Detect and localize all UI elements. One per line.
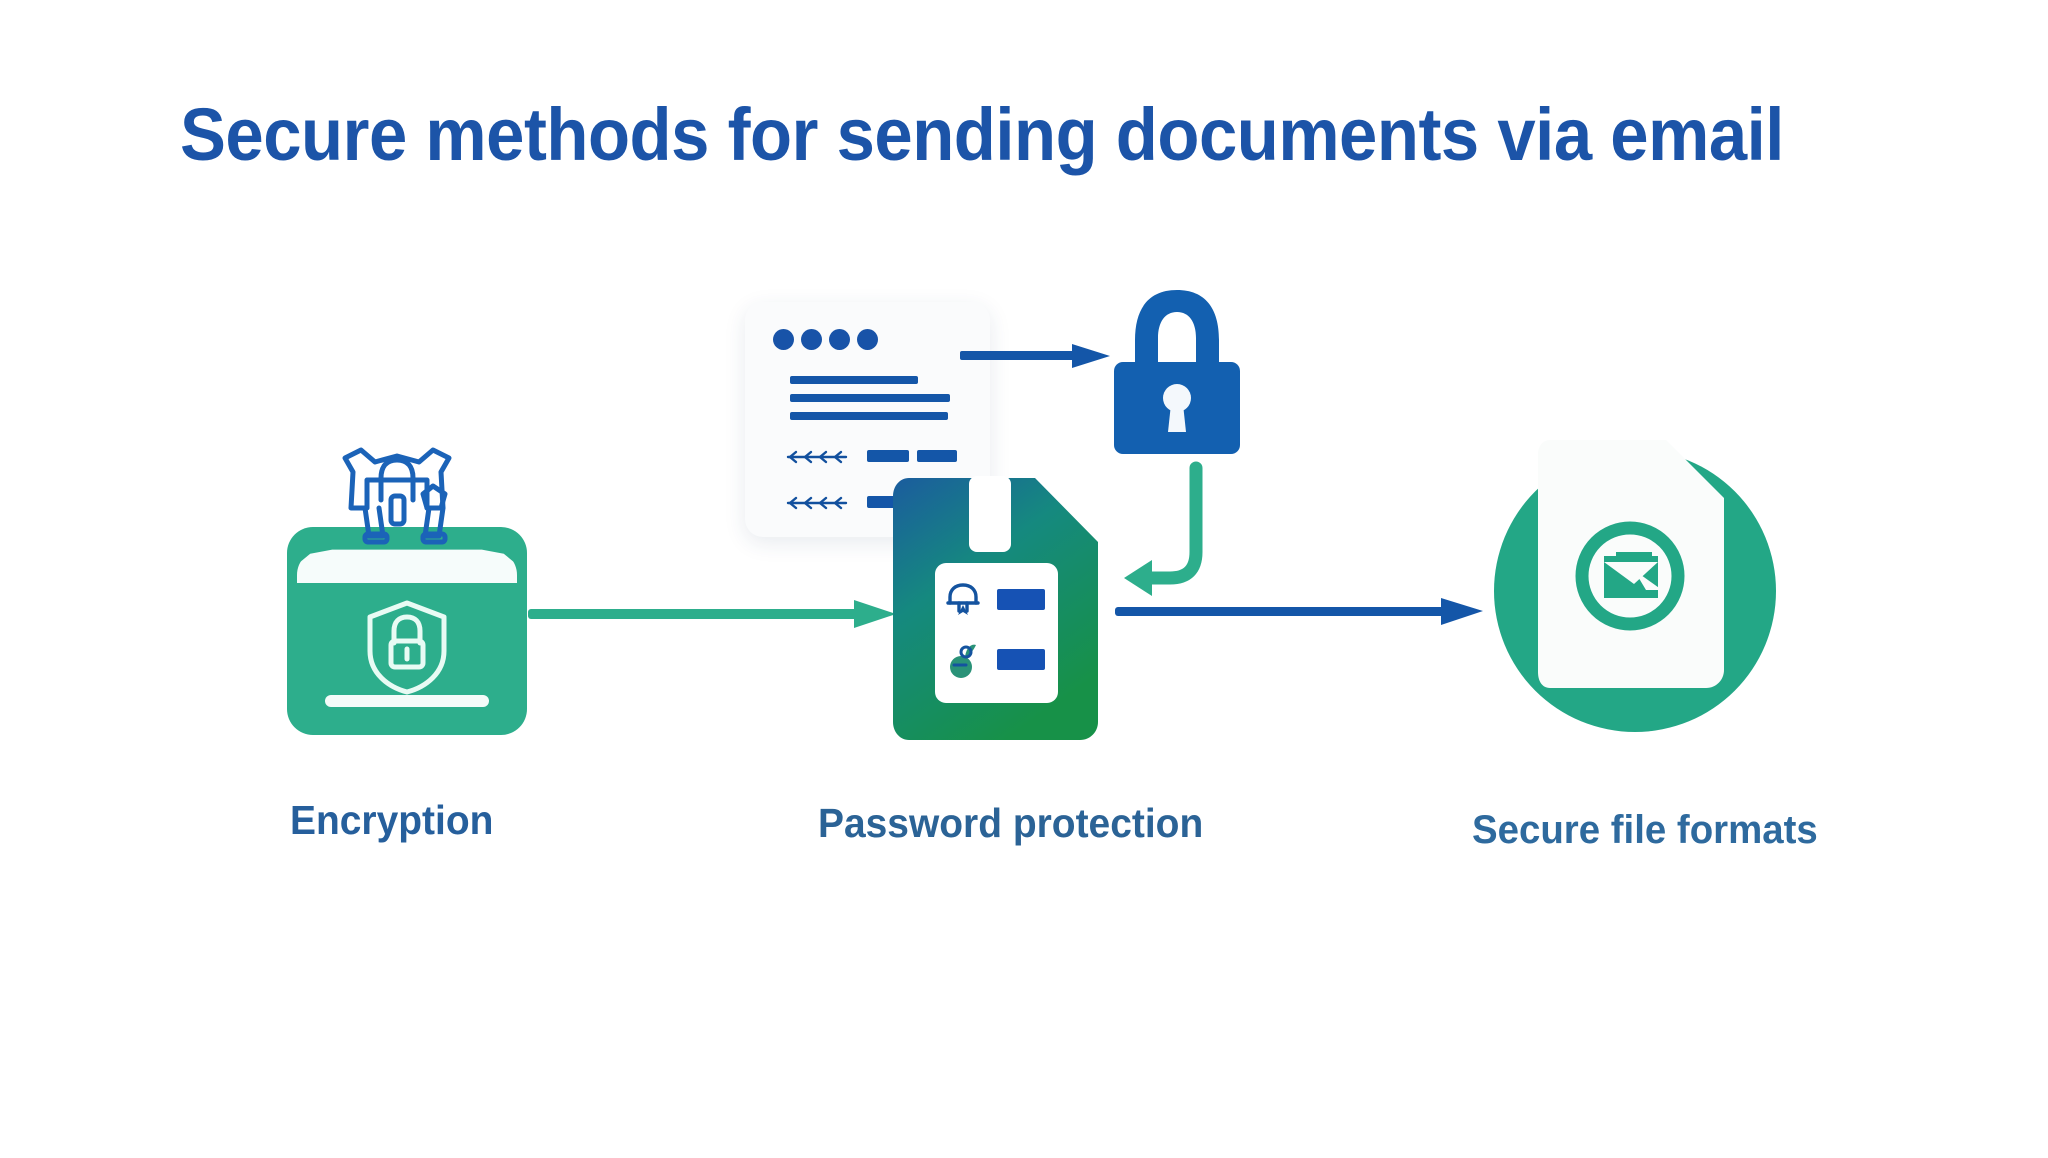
doc-dot xyxy=(829,329,850,350)
user-badge-icon xyxy=(945,581,981,623)
key-lock-icon xyxy=(945,637,981,681)
encryption-card-icon xyxy=(287,527,527,735)
arrow-document-to-padlock xyxy=(960,330,1115,382)
step-label-secure-file-formats: Secure file formats xyxy=(1472,810,1818,850)
credential-card xyxy=(935,563,1058,703)
arrow-padlock-to-password xyxy=(1110,460,1260,605)
doc-text-bar xyxy=(790,394,950,402)
diagram-canvas: Secure methods for sending documents via… xyxy=(0,0,2048,1158)
step-label-password-protection: Password protection xyxy=(818,803,1203,844)
secure-file-format-icon xyxy=(1490,432,1790,732)
credential-value-bar xyxy=(997,589,1045,610)
doc-short-bar xyxy=(867,450,909,462)
doc-dot xyxy=(857,329,878,350)
password-protected-file-icon xyxy=(893,470,1105,745)
step-label-encryption: Encryption xyxy=(290,800,493,841)
doc-squiggle-mark xyxy=(786,448,848,466)
encryption-card-bottom-bar xyxy=(325,695,489,707)
blue-shield-linework-icon xyxy=(335,438,459,556)
arrow-password-to-secure-formats xyxy=(1115,585,1485,637)
shield-lock-icon xyxy=(364,599,450,695)
doc-squiggle-mark xyxy=(786,494,848,512)
doc-text-bar xyxy=(790,376,918,384)
arrow-encryption-to-password xyxy=(528,588,898,640)
doc-text-bar xyxy=(790,412,948,420)
page-title: Secure methods for sending documents via… xyxy=(180,98,1780,172)
doc-dot xyxy=(773,329,794,350)
document-shape xyxy=(1538,440,1728,688)
doc-short-bar xyxy=(917,450,957,462)
credential-value-bar xyxy=(997,649,1045,670)
padlock-icon xyxy=(1108,282,1246,462)
doc-dot xyxy=(801,329,822,350)
